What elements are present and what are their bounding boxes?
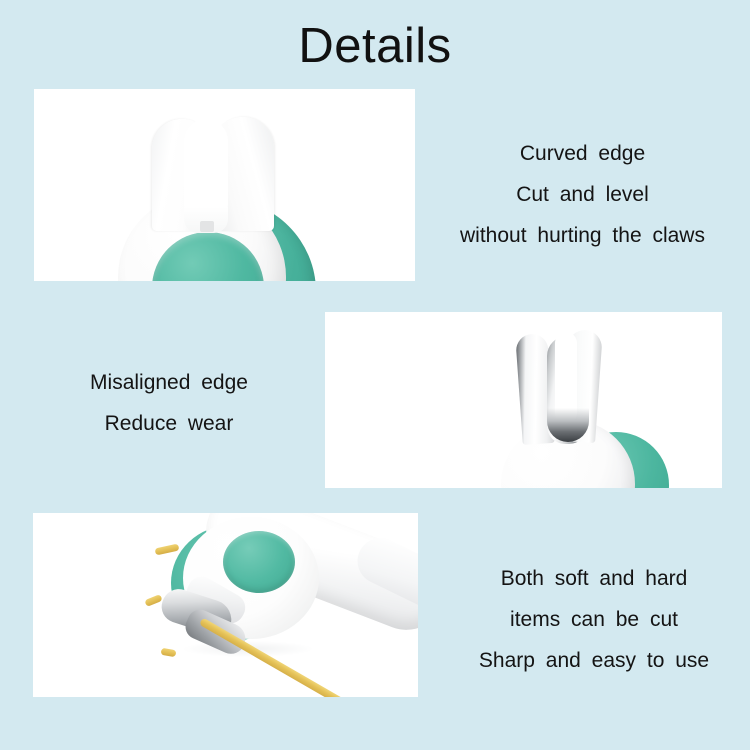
clipper-jaws-macro-illustration — [34, 89, 415, 281]
cut-fragment — [155, 544, 180, 556]
caption-line: Both soft and hard — [438, 558, 750, 599]
jaw-base-notch — [200, 221, 214, 232]
teal-button — [223, 531, 295, 593]
page-title: Details — [0, 18, 750, 74]
feature-image-soft-and-hard — [33, 513, 418, 697]
caption-line: Cut and level — [415, 174, 750, 215]
feature-image-curved-edge — [34, 89, 415, 281]
clipper-blades-side-illustration — [325, 312, 722, 488]
caption-line: Misaligned edge — [24, 362, 314, 403]
cut-fragment — [161, 648, 177, 657]
feature-caption-soft-and-hard: Both soft and hard items can be cut Shar… — [438, 558, 750, 681]
caption-line: Sharp and easy to use — [438, 640, 750, 681]
product-details-page: Details Curved edge Cut and level withou… — [0, 0, 750, 750]
feature-caption-curved-edge: Curved edge Cut and level without hurtin… — [415, 133, 750, 256]
feature-caption-misaligned-edge: Misaligned edge Reduce wear — [24, 362, 314, 444]
caption-line: Curved edge — [415, 133, 750, 174]
caption-line: Reduce wear — [24, 403, 314, 444]
cut-fragment — [144, 594, 162, 607]
clipper-cutting-illustration — [33, 513, 418, 697]
caption-line: items can be cut — [438, 599, 750, 640]
caption-line: without hurting the claws — [415, 215, 750, 256]
feature-image-misaligned-edge — [325, 312, 722, 488]
